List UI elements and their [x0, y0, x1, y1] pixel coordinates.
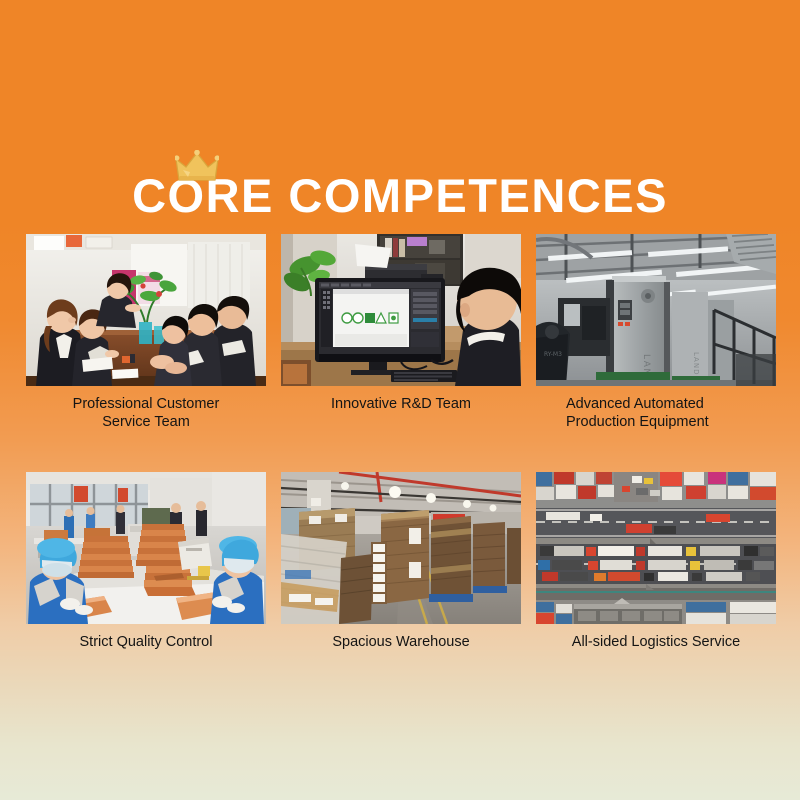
competence-card-customer-service: Professional Customer Service Team [26, 234, 266, 431]
competence-grid: Professional Customer Service Team [26, 234, 776, 651]
caption-line-2: Service Team [26, 413, 266, 431]
caption-logistics: All-sided Logistics Service [536, 633, 776, 651]
page-title-block: CORE COMPETENCES [0, 150, 800, 226]
svg-text:RY-M3: RY-M3 [544, 351, 562, 358]
caption-line-2: Production Equipment [566, 413, 776, 431]
competence-card-rd-team: Innovative R&D Team [281, 234, 521, 431]
warehouse-pallets-photo [281, 472, 521, 624]
aerial-container-port-photo [536, 472, 776, 624]
caption-customer-service: Professional Customer Service Team [26, 395, 266, 431]
caption-line-1: All-sided Logistics Service [536, 633, 776, 651]
designer-at-computer-photo [281, 234, 521, 386]
caption-line-1: Advanced Automated [566, 395, 776, 413]
competence-card-production-equipment: LAND 800 LAND 800 RY-M3 [536, 234, 776, 431]
quality-inspection-workers-photo [26, 472, 266, 624]
competence-card-warehouse: Spacious Warehouse [281, 472, 521, 651]
caption-line-1: Strict Quality Control [26, 633, 266, 651]
business-meeting-photo [26, 234, 266, 386]
caption-production-equipment: Advanced Automated Production Equipment [536, 395, 776, 431]
caption-line-1: Professional Customer [26, 395, 266, 413]
caption-line-1: Spacious Warehouse [281, 633, 521, 651]
crown-icon [175, 150, 219, 184]
caption-warehouse: Spacious Warehouse [281, 633, 521, 651]
page-title: CORE COMPETENCES [0, 150, 800, 226]
caption-line-1: Innovative R&D Team [281, 395, 521, 413]
competence-card-logistics: All-sided Logistics Service [536, 472, 776, 651]
core-competences-banner: CORE COMPETENCES [0, 0, 800, 800]
caption-rd-team: Innovative R&D Team [281, 395, 521, 413]
printing-press-photo: LAND 800 LAND 800 RY-M3 [536, 234, 776, 386]
competence-card-quality-control: Strict Quality Control [26, 472, 266, 651]
caption-quality-control: Strict Quality Control [26, 633, 266, 651]
